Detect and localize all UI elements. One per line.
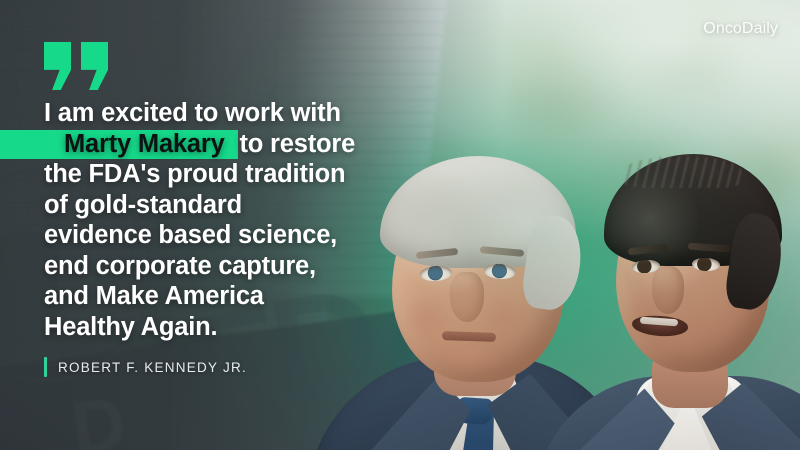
attribution-name: ROBERT F. KENNEDY JR. [58, 360, 247, 375]
quote-glyph-right [81, 42, 108, 90]
content-layer: I am excited to work with Marty Makary t… [0, 0, 800, 450]
quote-line-2: Marty Makary to restore [44, 129, 374, 160]
quote-text: I am excited to work with Marty Makary t… [44, 98, 374, 342]
quote-line-4: of gold-standard [44, 190, 374, 221]
quote-line-7: and Make America [44, 281, 374, 312]
double-quote-icon [44, 42, 118, 92]
quote-line-2-rest: to restore [232, 130, 356, 158]
quote-line-6: end corporate capture, [44, 251, 374, 282]
quote-line-1: I am excited to work with [44, 98, 374, 129]
quote-card: D PUBLIC HEALTH U.S. 1798 FDA [0, 0, 800, 450]
quote-glyph-left [44, 42, 71, 90]
attribution: ROBERT F. KENNEDY JR. [44, 357, 247, 377]
quote-line-8: Healthy Again. [44, 312, 374, 343]
oncodaily-logo: OncoDaily [703, 20, 778, 38]
quote-line-3: the FDA's proud tradition [44, 159, 374, 190]
quote-line-5: evidence based science, [44, 220, 374, 251]
attribution-accent-bar [44, 357, 47, 377]
highlighted-name: Marty Makary [44, 130, 225, 158]
